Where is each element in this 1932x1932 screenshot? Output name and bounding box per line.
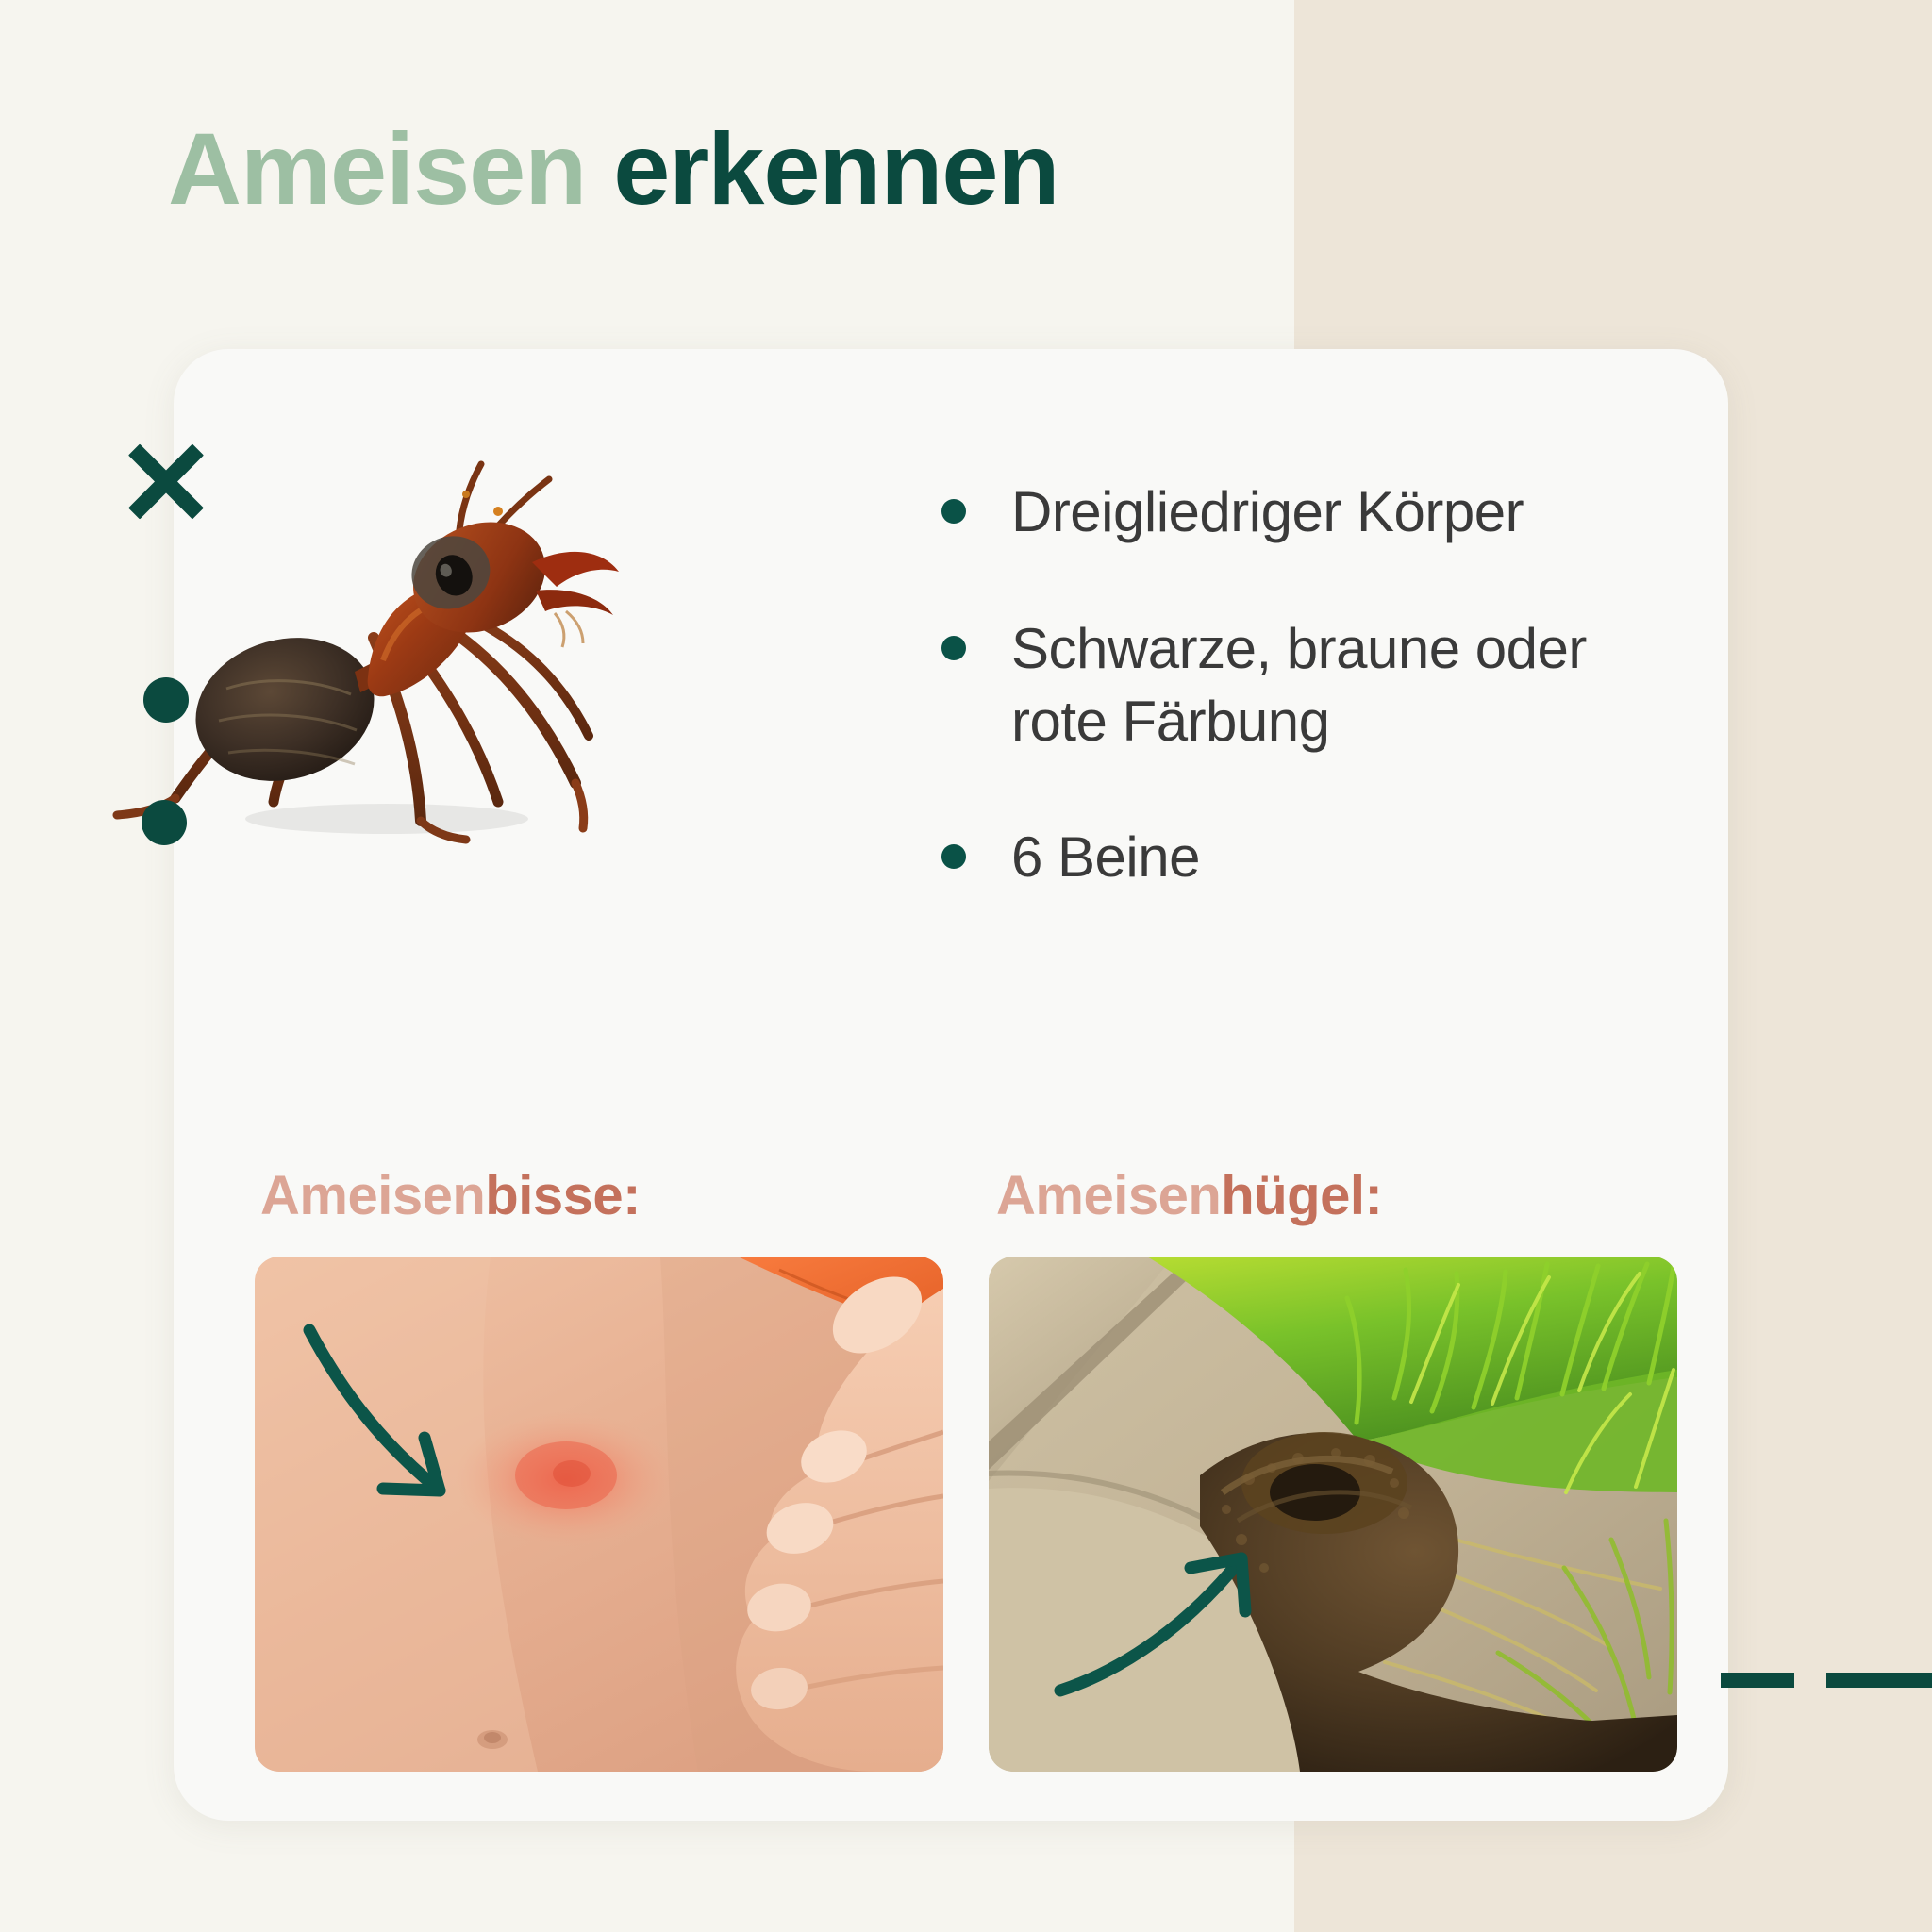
bullet-dot-icon <box>941 636 966 660</box>
title-part-dark: erkennen <box>586 111 1058 225</box>
label-ant-hills: Ameisenhügel: <box>996 1164 1382 1227</box>
ant-hill-illustration <box>989 1257 1677 1772</box>
bullet-dot-icon <box>941 499 966 524</box>
list-item-label: Schwarze, braune oder rote Färbung <box>1011 613 1640 758</box>
bullet-dot-icon <box>941 844 966 869</box>
dash-segment-2 <box>1826 1673 1932 1688</box>
x-mark-icon <box>121 436 211 526</box>
list-item: Schwarze, braune oder rote Färbung <box>941 613 1640 758</box>
label-ant-bites-prefix: Ameisen <box>260 1165 485 1226</box>
dashed-line-decoration <box>1721 1673 1932 1688</box>
dash-segment-1 <box>1721 1673 1794 1688</box>
infographic-canvas: Ameisen erkennen <box>0 0 1932 1932</box>
label-ant-hills-suffix: hügel: <box>1221 1165 1382 1226</box>
label-ant-bites: Ameisenbisse: <box>260 1164 641 1227</box>
photo-ant-bite <box>255 1257 943 1772</box>
ant-bite-illustration <box>255 1257 943 1772</box>
page-title: Ameisen erkennen <box>168 113 1058 225</box>
label-ant-hills-prefix: Ameisen <box>996 1165 1221 1226</box>
list-item: Dreigliedriger Körper <box>941 476 1640 549</box>
decorative-dot-2 <box>142 800 187 845</box>
photo-ant-hill <box>989 1257 1677 1772</box>
label-ant-bites-suffix: bisse: <box>485 1165 641 1226</box>
feature-list: Dreigliedriger Körper Schwarze, braune o… <box>941 476 1640 958</box>
list-item-label: 6 Beine <box>1011 822 1200 894</box>
decorative-dot-1 <box>143 677 189 723</box>
list-item: 6 Beine <box>941 822 1640 894</box>
list-item-label: Dreigliedriger Körper <box>1011 476 1524 549</box>
title-part-light: Ameisen <box>168 111 586 225</box>
